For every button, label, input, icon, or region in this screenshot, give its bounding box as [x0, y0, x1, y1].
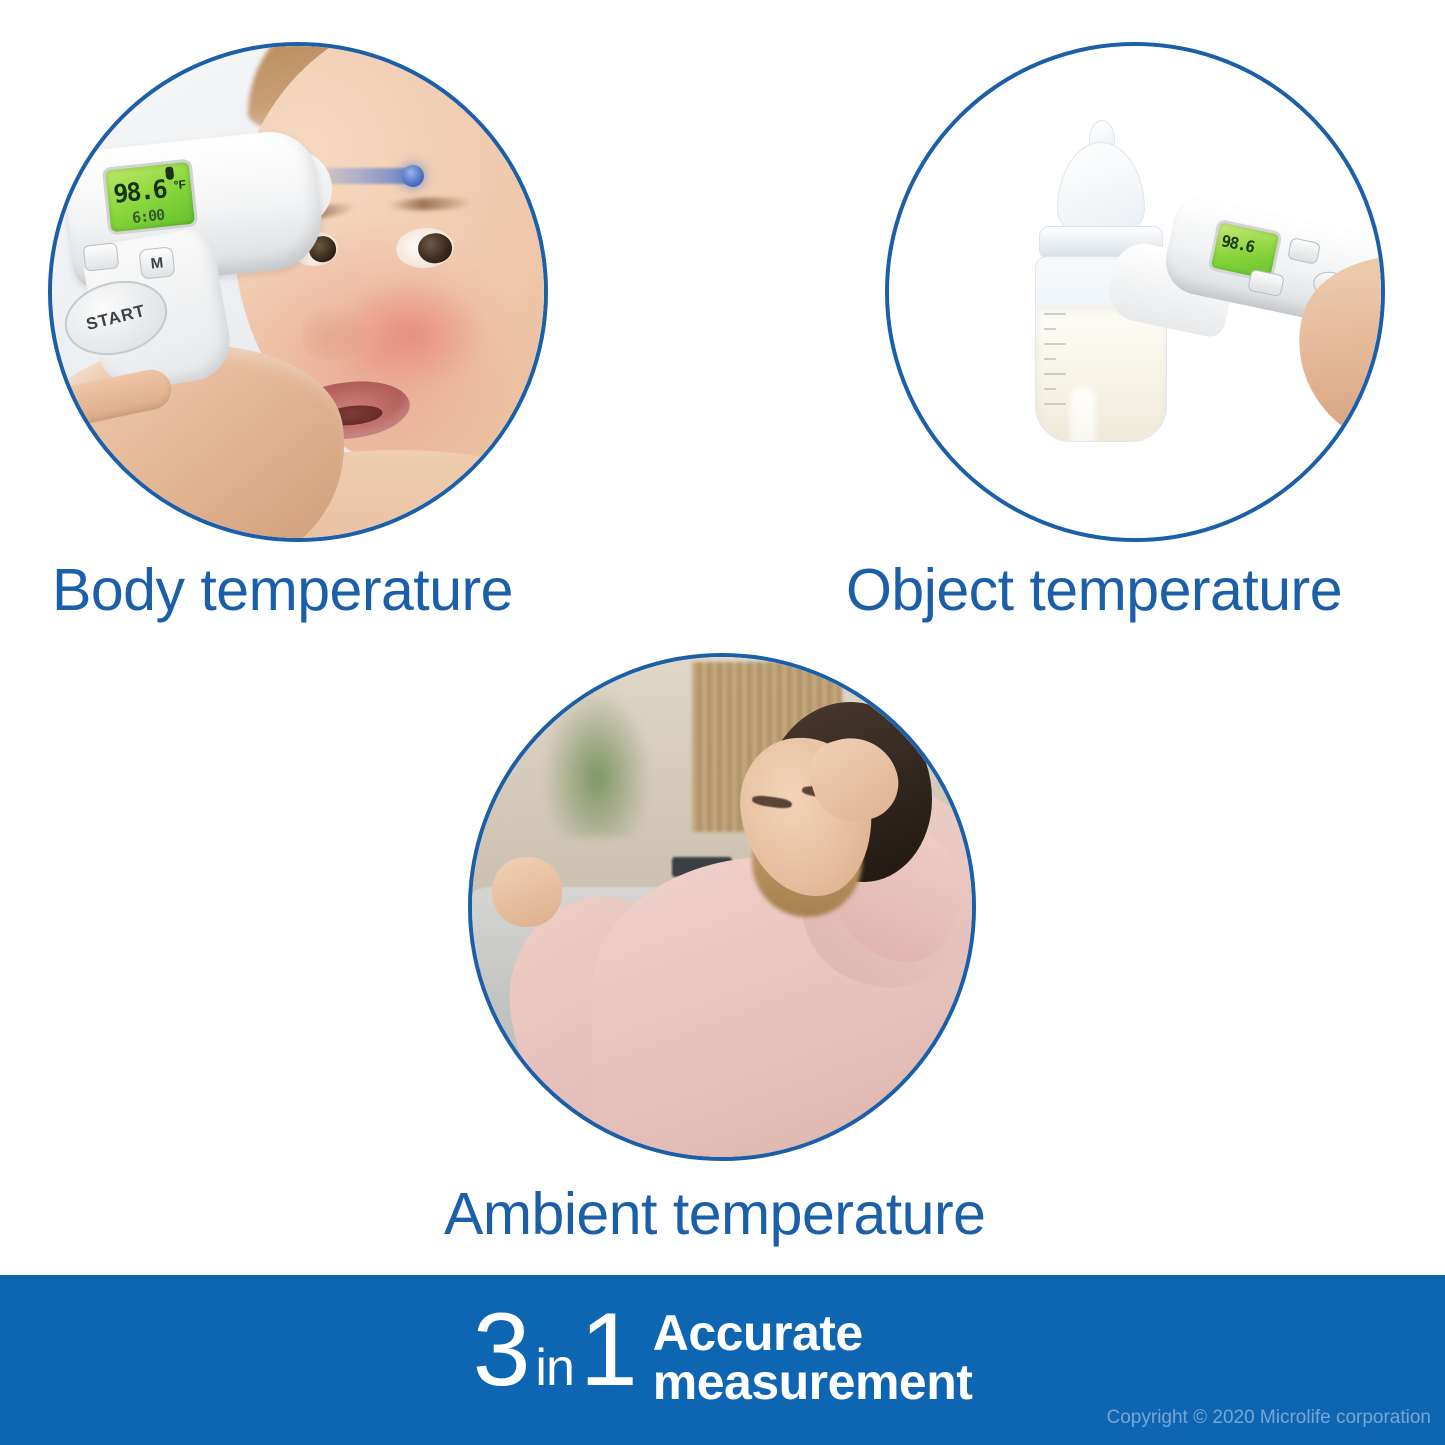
footer-headline-group: 3 in 1 Accurate measurement [0, 1301, 1445, 1407]
fan-ribs [481, 713, 753, 993]
footer-banner: 3 in 1 Accurate measurement Copyright © … [0, 1275, 1445, 1445]
three-number: 3 [473, 1301, 530, 1401]
bottle-highlight [1070, 387, 1096, 442]
hand-fan [472, 693, 776, 1011]
ambient-temperature-photo [468, 653, 976, 1161]
memory-button[interactable]: M [139, 246, 176, 279]
object-temperature-photo: 98.6 [885, 42, 1385, 542]
lcd-reading: 98.6 [1220, 231, 1256, 256]
three-in-one-label: 3 in 1 [473, 1301, 637, 1401]
body-temperature-photo: 98.6 °F 6:00 M START [48, 42, 548, 542]
accurate-measurement-headline: Accurate measurement [653, 1301, 973, 1407]
body-temperature-caption: Body temperature [52, 556, 513, 624]
thermometer-device: 98.6 °F 6:00 M START [52, 140, 336, 380]
mode-button[interactable] [83, 242, 120, 271]
lcd-display: 98.6 °F 6:00 [105, 162, 195, 232]
copyright-notice: Copyright © 2020 Microlife corporation [1107, 1407, 1431, 1429]
in-word: in [529, 1344, 579, 1394]
one-number: 1 [580, 1301, 637, 1401]
headline-line-1: Accurate [653, 1309, 973, 1358]
infrared-target-dot [402, 165, 424, 187]
infographic-page: 98.6 °F 6:00 M START Body temperature [0, 0, 1445, 1445]
bottle-nipple [1057, 142, 1145, 236]
object-temperature-caption: Object temperature [846, 556, 1342, 624]
ambient-temperature-caption: Ambient temperature [444, 1180, 985, 1248]
woman-hand-holding-fan [492, 857, 562, 927]
lcd-unit: °F [173, 177, 187, 192]
thermometer-device: 98.6 [1137, 196, 1381, 406]
headline-line-2: measurement [653, 1358, 973, 1407]
lcd-reading: 98.6 [112, 174, 167, 208]
lcd-secondary-reading: 6:00 [131, 206, 165, 227]
